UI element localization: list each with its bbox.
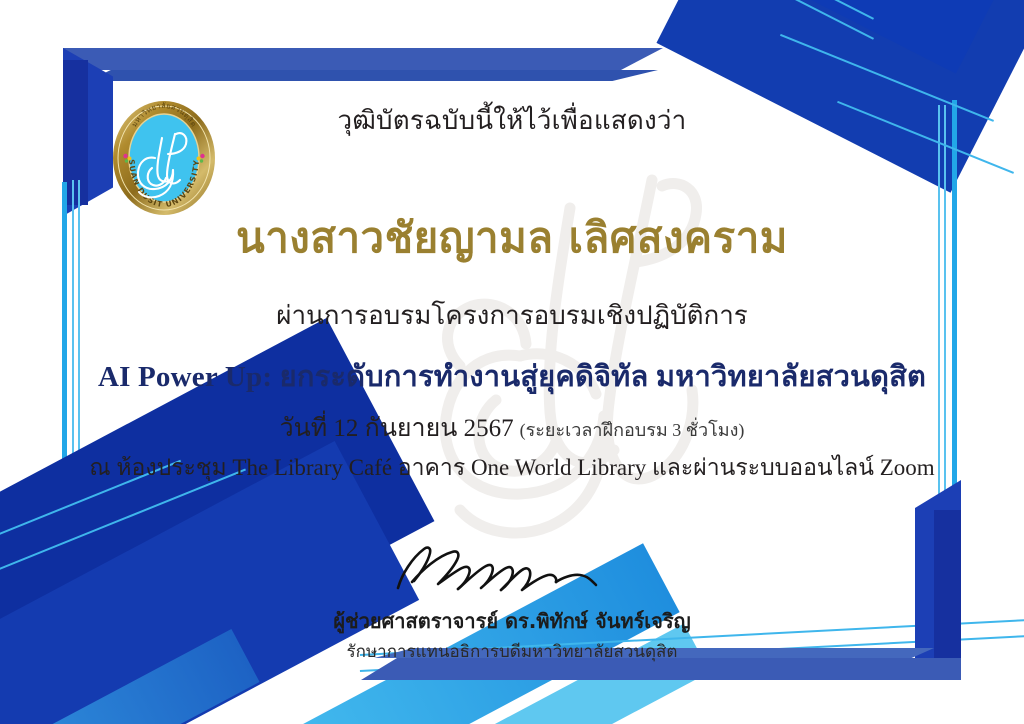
duration-text: (ระยะเวลาฝึกอบรม 3 ชั่วโมง) (520, 420, 745, 440)
recipient-name: นางสาวชัยญามล เลิศสงคราม (0, 205, 1024, 271)
certificate-page: มหาวิทยาลัยสวนดุสิต SUAN DUSIT UNIVERSIT… (0, 0, 1024, 724)
date-line: วันที่ 12 กันยายน 2567(ระยะเวลาฝึกอบรม 3… (0, 408, 1024, 448)
signer-role: รักษาการแทนอธิการบดีมหาวิทยาลัยสวนดุสิต (0, 638, 1024, 665)
course-title: AI Power Up: ยกระดับการทำงานสู่ยุคดิจิทั… (0, 353, 1024, 399)
passed-statement: ผ่านการอบรมโครงการอบรมเชิงปฏิบัติการ (0, 295, 1024, 336)
signer-name: ผู้ช่วยศาสตราจารย์ ดร.พิทักษ์ จันทร์เจริ… (0, 605, 1024, 637)
handwritten-signature (382, 540, 642, 602)
venue-line: ณ ห้องประชุม The Library Café อาคาร One … (0, 450, 1024, 486)
certificate-text-content: วุฒิบัตรฉบับนี้ให้ไว้เพื่อแสดงว่า นางสาว… (0, 0, 1024, 724)
date-text: วันที่ 12 กันยายน 2567 (280, 415, 514, 442)
certificate-intro-line: วุฒิบัตรฉบับนี้ให้ไว้เพื่อแสดงว่า (0, 100, 1024, 141)
